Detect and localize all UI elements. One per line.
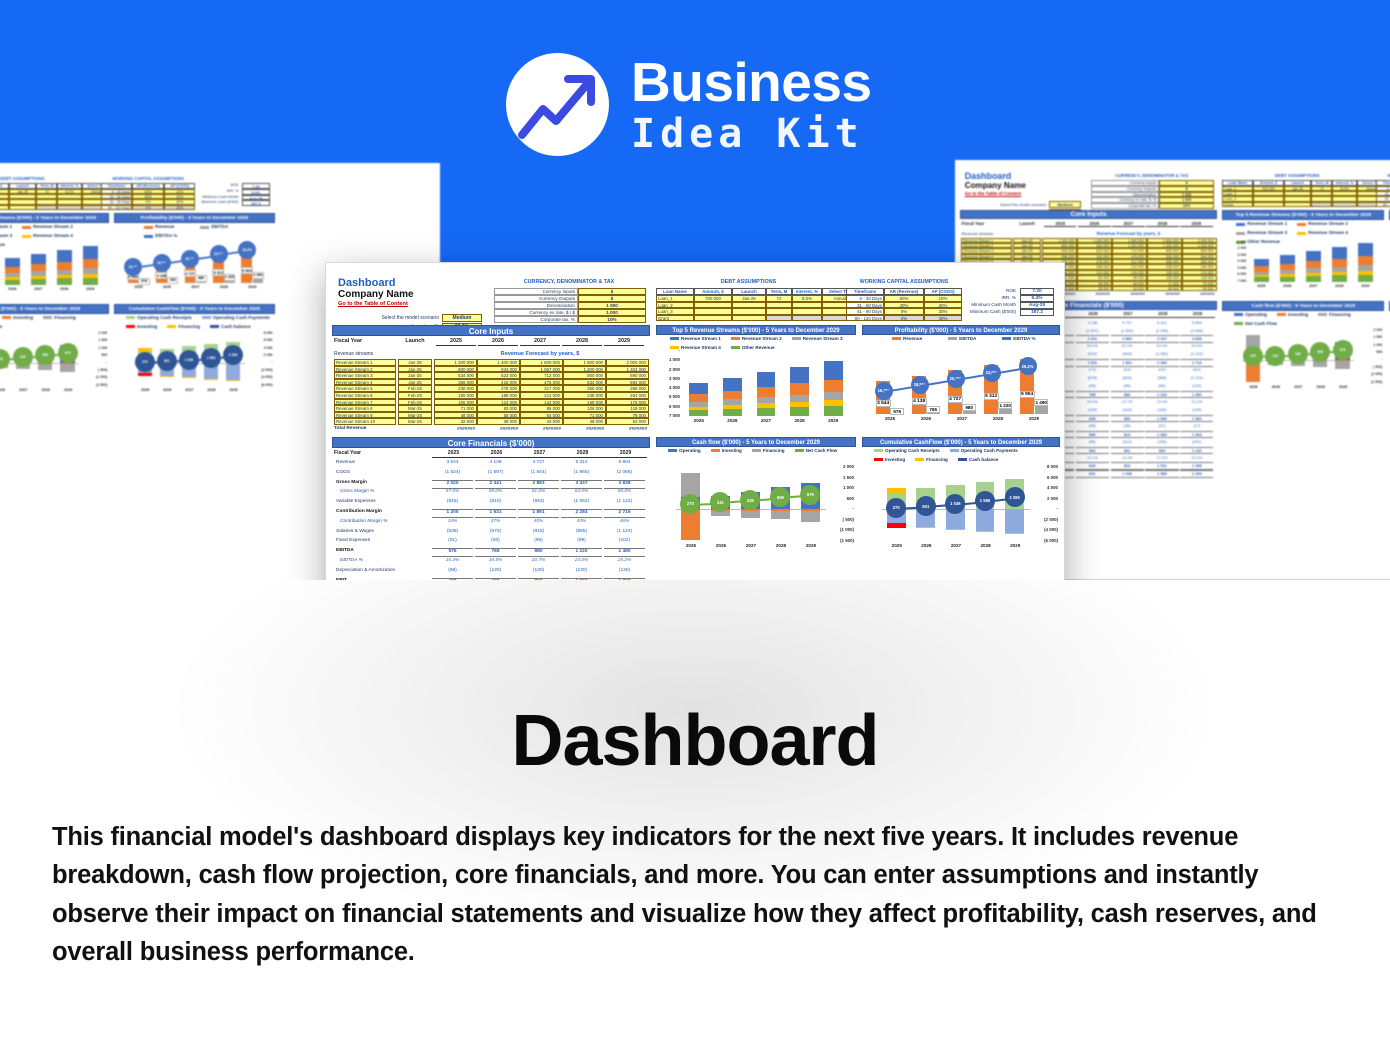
revenue-forecast-cell[interactable]: 475 000	[520, 379, 563, 386]
revenue-forecast-cell[interactable]: 212 000	[520, 392, 563, 399]
cf-row-label: Contribution Margin %	[336, 519, 430, 528]
cf-cell: 5 312	[1145, 320, 1178, 327]
cf-cell: 2 284	[1145, 359, 1178, 366]
legend-label: Financing	[54, 315, 76, 320]
revenue-forecast-cell[interactable]: 1 334 000	[606, 366, 649, 373]
cf-cell: (130)	[1111, 407, 1144, 414]
legend-label: EBITDA	[211, 224, 228, 229]
legend-item: Revenue Stream 2	[731, 336, 782, 341]
legend-swatch	[950, 449, 959, 452]
revenue-stream-launch[interactable]: Jan-25	[398, 366, 432, 373]
cf-cell: (1 844)	[518, 470, 559, 479]
revenue-forecast-cell[interactable]: 106 000	[434, 399, 477, 406]
legend-label: Investing	[137, 324, 157, 329]
debt-cell[interactable]	[0, 205, 9, 210]
y-tick: 500	[79, 353, 107, 359]
bar-segment	[1358, 243, 1373, 256]
y-tick: 1 000	[1354, 343, 1382, 349]
legend-label: Operating Cash Receipts	[885, 448, 940, 453]
revenue-forecast-cell[interactable]: 1 067 000	[520, 366, 563, 373]
bar-segment	[689, 402, 708, 407]
debt-cell[interactable]	[792, 315, 822, 322]
legend-item: Operating Cash Payments	[950, 448, 1018, 453]
revenue-forecast-cell[interactable]: 43 000	[520, 418, 563, 425]
revenue-stream-name[interactable]: Revenue Stream 9	[334, 412, 396, 419]
cf-cell: 904	[1145, 447, 1178, 454]
bar-segment	[723, 391, 742, 400]
legend-item: Operating Cash Receipts	[874, 448, 940, 453]
kpi-label: IRR, %	[956, 295, 1018, 302]
cf-cell: (98)	[432, 568, 473, 577]
revenue-forecast-cell[interactable]: 186 000	[477, 392, 520, 399]
revenue-forecast-cell[interactable]: 159 000	[434, 392, 477, 399]
y-tick: 7 000	[656, 413, 680, 419]
revenue-forecast-cell[interactable]: 238 000	[434, 385, 477, 392]
legend-item: Operating Cash Payments	[202, 315, 270, 320]
cf-cell: 1 266	[1180, 462, 1213, 469]
legend-item: Cash balance	[958, 457, 999, 462]
cf-cell: (965)	[561, 529, 602, 538]
revenue-forecast-cell[interactable]: 83 000	[477, 405, 520, 412]
cf-cell: (1 965)	[561, 470, 602, 479]
cf-cell: (130)	[1076, 407, 1109, 414]
x-tick: 2027	[1287, 385, 1309, 393]
cf-cell: 1 490	[1180, 391, 1213, 398]
revenue-stream-name[interactable]: Revenue Stream 6	[334, 392, 396, 399]
revenue-label: 4 727	[184, 270, 196, 277]
cf-cell: (1 062)	[561, 499, 602, 508]
revenue-forecast-cell[interactable]: 43 000	[1112, 286, 1147, 291]
revenue-stream-launch[interactable]: Jan-25	[398, 359, 432, 366]
revenue-forecast-cell[interactable]: 534 000	[434, 372, 477, 379]
net-marker: 435	[1288, 344, 1308, 364]
bar-segment	[976, 531, 995, 532]
revenue-forecast-cell[interactable]: 106 000	[563, 405, 606, 412]
revenue-forecast-cell[interactable]: 890 000	[606, 372, 649, 379]
cf-cell: 2 716	[1180, 359, 1213, 366]
chart-legend-profitability: RevenueEBITDAEBITDA %	[144, 224, 270, 238]
bar-segment	[689, 410, 708, 416]
revenue-stream-launch[interactable]: Mar-25	[398, 405, 432, 412]
y-tick: 5 000	[656, 394, 680, 400]
debt-cell[interactable]	[9, 205, 37, 210]
scenario-select[interactable]: Medium	[442, 314, 482, 322]
cf-row-label: Depreciation & Amortization	[336, 568, 430, 577]
company-name: Company Name	[965, 181, 1026, 190]
legend-item: Investing	[874, 457, 905, 462]
revenue-stream-name[interactable]: Revenue Stream 5	[334, 385, 396, 392]
currency-row-value[interactable]: 1 000	[578, 302, 646, 309]
y-tick: 6 000	[1222, 272, 1246, 278]
y-tick: 1 000	[1222, 240, 1246, 246]
debt-cell[interactable]: Grant	[1222, 202, 1253, 207]
y-tick: 1 000	[656, 357, 680, 363]
core-inputs-year: 2027	[1112, 221, 1144, 227]
net-marker: 270	[886, 498, 906, 518]
bar-segment	[31, 279, 46, 285]
bar-segment	[1254, 259, 1269, 267]
cf-cell: (36)	[1111, 423, 1144, 430]
y-tick: 7 000	[1222, 279, 1246, 285]
core-inputs-year: 2029	[604, 338, 644, 346]
chart-cash_flow: Cash flow ($'000) - 5 Years to December …	[1222, 301, 1384, 397]
revenue-forecast-cell[interactable]: 534 000	[563, 379, 606, 386]
revenue-forecast-cell[interactable]: 356 000	[434, 379, 477, 386]
x-tick: 2029	[1016, 416, 1052, 424]
revenue-forecast-cell[interactable]: 38 000	[477, 418, 520, 425]
legend-item: EBITDA	[200, 224, 228, 229]
debt-cell[interactable]	[694, 315, 732, 322]
revenue-forecast-cell[interactable]: 118 000	[606, 405, 649, 412]
x-tick: 2028	[200, 388, 222, 396]
wc-cell[interactable]: 90 - 120 Days	[846, 315, 884, 322]
bar-segment	[31, 271, 46, 276]
scenario-select[interactable]: Medium	[1049, 201, 1081, 207]
revenue-forecast-cell[interactable]: 48 000	[563, 418, 606, 425]
legend-swatch	[1277, 313, 1286, 316]
revenue-stream-name[interactable]: Revenue Stream 3	[334, 372, 396, 379]
revenue-forecast-cell[interactable]: 71 000	[563, 412, 606, 419]
revenue-forecast-cell[interactable]: 396 000	[606, 385, 649, 392]
cf-cell: 3 347	[1145, 335, 1178, 342]
bar-segment	[887, 488, 906, 493]
x-tick: 2026	[156, 388, 178, 396]
cf-row-label: Variable Expenses	[336, 499, 430, 508]
revenue-forecast-cell[interactable]: 56 000	[477, 412, 520, 419]
wc-panel-title: WORKING CAPITAL ASSUMPTIONS	[101, 176, 195, 182]
y-tick: (6 000)	[1030, 538, 1058, 544]
ebitda-pct-marker: 25,2%	[1019, 357, 1037, 375]
total-revenue-label: Total Revenue	[334, 426, 396, 433]
cf-cell: 34%	[432, 519, 473, 528]
debt-cell[interactable]	[36, 205, 57, 210]
revenue-stream-launch[interactable]: Feb-25	[398, 385, 432, 392]
legend-item: Financing	[915, 457, 948, 462]
bar-segment	[689, 394, 708, 401]
revenue-forecast-cell[interactable]: 142 000	[520, 399, 563, 406]
x-tick: 2025	[1248, 284, 1274, 292]
currency-row-value[interactable]: 10%	[1159, 203, 1214, 209]
bar-segment	[57, 270, 72, 275]
revenue-forecast-cell[interactable]: 71 000	[434, 405, 477, 412]
bar-segment	[1358, 256, 1373, 265]
revenue-stream-launch[interactable]: Feb-25	[398, 399, 432, 406]
revenue-forecast-cell[interactable]: 124 000	[477, 399, 520, 406]
kpi-value: 187.2	[242, 200, 270, 206]
bar-segment	[83, 278, 98, 285]
currency-row-label: Currency ex rate, $ / $	[494, 309, 578, 316]
fiscal-year-label: Fiscal Year	[334, 338, 394, 346]
cf-row-label: COGS	[336, 470, 430, 479]
cf-cell: 3 347	[561, 480, 602, 489]
brand-name-line2: Idea Kit	[631, 114, 872, 154]
revenue-stream-name[interactable]: Revenue Stream 2	[334, 366, 396, 373]
kpi-value: 187.2	[1020, 309, 1054, 316]
revenue-forecast-cell[interactable]: 278 000	[477, 385, 520, 392]
launch-label: Launch	[1013, 221, 1041, 227]
bar-segment	[1005, 533, 1024, 534]
cf-cell: (675)	[475, 529, 516, 538]
revenue-stream-launch[interactable]: Feb-25	[398, 392, 432, 399]
wc-cell[interactable]: 90 - 120 Days	[101, 205, 132, 210]
x-tick: 2027	[749, 418, 783, 426]
cf-cell: (1 124)	[604, 529, 645, 538]
wc-cell[interactable]: 0%	[884, 315, 924, 322]
cf-cell: (102)	[604, 538, 645, 547]
revenue-stream-name[interactable]: Revenue Stream 8	[334, 405, 396, 412]
cf-cell: 1 531	[475, 509, 516, 518]
scenario-label: Select the model scenario	[970, 202, 1047, 208]
legend-label: Revenue Stream 4	[1308, 230, 1348, 235]
revenue-forecast-cell[interactable]: 317 000	[520, 385, 563, 392]
ebitda-label: 980	[195, 275, 206, 282]
chart-legend-cumulative_cashflow: Operating Cash ReceiptsOperating Cash Pa…	[126, 315, 270, 329]
currency-row-value[interactable]: 10%	[578, 316, 646, 323]
cf-cell: 3 544	[432, 460, 473, 469]
x-tick: 2025	[682, 418, 716, 426]
currency-row-value[interactable]: 1.000	[578, 309, 646, 316]
core-inputs-band: Core Inputs	[960, 210, 1218, 219]
revenue-forecast-cell[interactable]: 176 000	[606, 399, 649, 406]
debt-cell[interactable]	[1253, 202, 1284, 207]
chart-title-top5_revenue: Top 5 Revenue Streams ($'000) - 5 Years …	[1222, 210, 1384, 220]
revenue-forecast-cell[interactable]: 53 000	[1182, 286, 1217, 291]
legend-label: Financing	[926, 457, 948, 462]
cf-row-label: Salaries & Wages	[336, 529, 430, 538]
revenue-stream-launch[interactable]: Mar-25	[398, 418, 432, 425]
revenue-forecast-cell[interactable]: 934 000	[477, 366, 520, 373]
legend-swatch	[22, 226, 31, 229]
x-tick: 2029	[816, 418, 850, 426]
cf-cell: 1 031	[1145, 462, 1178, 469]
bar-segment	[5, 258, 20, 267]
x-tick: 2027	[181, 285, 209, 293]
legend-item: Revenue Stream 3	[792, 336, 843, 341]
revenue-forecast-cell[interactable]: 356 000	[563, 385, 606, 392]
cf-cell: (93)	[1076, 383, 1109, 390]
x-tick: 2025	[134, 388, 156, 396]
chart-profitability: Profitability ($'000) - 5 Years to Decem…	[114, 213, 274, 296]
revenue-stream-name[interactable]: Revenue Stream 10	[334, 418, 396, 425]
revenue-forecast-cell[interactable]: 1 400 000	[477, 359, 520, 366]
total-revenue-cell: #######	[606, 426, 649, 433]
revenue-forecast-cell[interactable]: 32 000	[434, 418, 477, 425]
cf-cell: (102)	[1180, 383, 1213, 390]
currency-row-label: Corporate tax, %	[494, 316, 578, 323]
revenue-stream-launch[interactable]: Jan-25	[398, 372, 432, 379]
revenue-forecast-cell[interactable]: 159 000	[563, 399, 606, 406]
cf-cell: (815)	[518, 529, 559, 538]
cf-cell: (2 066)	[1180, 328, 1213, 335]
revenue-forecast-cell[interactable]: 38 000	[1077, 286, 1112, 291]
chart-legend-cumulative_cashflow: Operating Cash ReceiptsOperating Cash Pa…	[874, 448, 1056, 462]
cf-cell: (130)	[475, 568, 516, 577]
revenue-forecast-cell[interactable]: 1 800 000	[563, 359, 606, 366]
legend-item: Revenue	[892, 336, 922, 341]
x-tick: 2028	[971, 543, 1001, 551]
bar-segment	[801, 511, 820, 522]
y-tick: 1 000	[79, 346, 107, 352]
revenue-forecast-cell[interactable]: 95 000	[520, 405, 563, 412]
cf-row-label: Revenue	[336, 460, 430, 469]
legend-item: Other Revenue	[0, 242, 5, 247]
cf-cell: (130)	[604, 568, 645, 577]
legend-label: Revenue	[155, 224, 174, 229]
legend-label: Financing	[1329, 312, 1351, 317]
revenue-forecast-cell[interactable]: 53 000	[606, 418, 649, 425]
y-tick: 500	[826, 496, 854, 502]
debt-panel-title: DEBT ASSUMPTIONS	[1222, 173, 1372, 179]
bar-segment	[771, 511, 790, 520]
cf-cell: (96)	[518, 538, 559, 547]
dashboard-heading: Dashboard	[338, 277, 395, 289]
net-marker: 1 585	[975, 491, 995, 511]
legend-label: Revenue Stream 3	[803, 336, 843, 341]
legend-label: Revenue Stream 1	[1247, 221, 1287, 226]
chart-title-cash_flow: Cash flow ($'000) - 5 Years to December …	[0, 304, 109, 314]
legend-label: Investing	[1288, 312, 1308, 317]
debt-cell[interactable]	[732, 315, 766, 322]
revenue-forecast-cell[interactable]: 1 600 000	[520, 359, 563, 366]
cf-cell: 4 727	[518, 460, 559, 469]
bar-segment	[138, 348, 152, 352]
legend-label: EBITDA %	[1013, 336, 1035, 341]
bar-segment	[31, 254, 46, 264]
legend-swatch	[2, 316, 11, 319]
table-of-content-link[interactable]: Go to the Table of Content	[338, 301, 408, 307]
cf-cell: (45)	[1076, 423, 1109, 430]
cf-cell: (96)	[1111, 383, 1144, 390]
bar-segment	[5, 280, 20, 285]
ebitda-label: 1 220	[998, 402, 1012, 409]
chart-legend-profitability: RevenueEBITDAEBITDA %	[892, 336, 1056, 341]
legend-swatch	[958, 458, 967, 461]
bar-segment	[1332, 272, 1347, 275]
legend-swatch	[711, 449, 720, 452]
chart-top5_revenue: Top 5 Revenue Streams ($'000) - 5 Years …	[1222, 210, 1384, 293]
total-revenue-cell: #######	[520, 426, 563, 433]
x-tick: 2029	[77, 287, 103, 295]
bar-segment	[1332, 267, 1347, 272]
currency-row-label: Currency Inputs	[494, 288, 578, 295]
revenue-forecast-cell[interactable]: 416 000	[477, 379, 520, 386]
y-tick: 2 000	[1354, 328, 1382, 334]
legend-swatch	[668, 449, 677, 452]
revenue-forecast-cell[interactable]: 712 000	[520, 372, 563, 379]
bar-segment	[741, 511, 760, 518]
revenue-forecast-cell[interactable]: 64 000	[520, 412, 563, 419]
chart-profitability: Profitability ($'000) - 5 Years to Decem…	[862, 325, 1060, 428]
x-tick: 2026	[706, 543, 736, 551]
legend-label: Other Revenue	[1247, 239, 1280, 244]
debt-cell[interactable]	[1284, 202, 1312, 207]
cf-cell: 2 265	[1180, 470, 1213, 477]
revenue-stream-name[interactable]: Revenue Stream 1	[334, 359, 396, 366]
x-tick: 2029	[57, 388, 79, 396]
revenue-forecast-cell[interactable]: 48 000	[434, 412, 477, 419]
chart-top5_revenue: Top 5 Revenue Streams ($'000) - 5 Years …	[0, 213, 109, 296]
legend-item: Operating Cash Receipts	[126, 315, 192, 320]
y-tick: (4 000)	[245, 375, 273, 381]
currency-row-value[interactable]: $	[578, 288, 646, 295]
bar-segment	[1280, 277, 1295, 282]
x-tick: 2026	[908, 416, 944, 424]
y-tick: 3 000	[1222, 253, 1246, 259]
debt-cell[interactable]	[1332, 202, 1356, 207]
revenue-forecast-cell[interactable]: 800 000	[563, 372, 606, 379]
y-tick: 2 000	[79, 331, 107, 337]
cf-year: 2027	[518, 450, 561, 458]
x-tick: 2025	[882, 543, 912, 551]
bar-segment	[1332, 259, 1347, 267]
revenue-forecast-cell[interactable]: 79 000	[606, 412, 649, 419]
y-tick: (2 000)	[245, 368, 273, 374]
cf-cell: 40%	[518, 519, 559, 528]
bar-segment	[757, 397, 776, 404]
revenue-forecast-cell[interactable]: 1 200 000	[434, 359, 477, 366]
revenue-forecast-cell[interactable]: 48 000	[1147, 286, 1182, 291]
page-description: This financial model's dashboard display…	[52, 818, 1342, 971]
core-inputs-year: 2028	[562, 338, 602, 346]
y-tick: 2 000	[656, 367, 680, 373]
revenue-stream-launch[interactable]: Mar-25	[398, 412, 432, 419]
bar-segment	[1313, 361, 1327, 367]
revenue-forecast-cell[interactable]: 594 000	[606, 379, 649, 386]
net-marker: 601	[157, 351, 177, 371]
revenue-stream-name[interactable]: Revenue Stream 4	[334, 379, 396, 386]
bar-segment	[790, 395, 809, 402]
legend-item: Investing	[1277, 312, 1308, 317]
revenue-forecast-cell[interactable]: 264 000	[606, 392, 649, 399]
legend-swatch	[126, 325, 135, 328]
currency-row-label: Currency Outputs	[494, 295, 578, 302]
debt-cell[interactable]: Grant	[656, 315, 694, 322]
wc-cell[interactable]: 0%	[132, 205, 164, 210]
x-tick: 2025	[124, 285, 152, 293]
wc-panel-title: WORKING CAPITAL ASSUMPTIONS	[846, 279, 962, 287]
cf-cell: (1 124)	[1180, 375, 1213, 382]
revenue-forecast-cell[interactable]: 800 000	[434, 366, 477, 373]
revenue-forecast-cell[interactable]: 238 000	[563, 392, 606, 399]
y-tick: 4 000	[656, 385, 680, 391]
wc-cell[interactable]: 90 - 120 Days	[1376, 202, 1390, 207]
revenue-stream-name[interactable]: Revenue Stream 7	[334, 399, 396, 406]
debt-cell[interactable]	[766, 315, 792, 322]
x-tick: 2026	[0, 388, 12, 396]
debt-cell[interactable]	[57, 205, 81, 210]
revenue-forecast-cell[interactable]: 2 000 000	[606, 359, 649, 366]
cf-cell: (122)	[1111, 439, 1144, 446]
currency-row-value[interactable]: $	[578, 295, 646, 302]
cf-year: 2028	[561, 450, 604, 458]
revenue-forecast-cell[interactable]: 1 200 000	[563, 366, 606, 373]
debt-cell[interactable]	[1311, 202, 1332, 207]
table-of-content-link[interactable]: Go to the Table of Content	[965, 191, 1021, 196]
legend-label: Cash balance	[221, 324, 251, 329]
legend-swatch	[22, 235, 31, 238]
x-tick: 2027	[178, 388, 200, 396]
wc-col-header: AR (Revenue)	[884, 288, 924, 295]
revenue-forecast-title: Revenue Forecast by years, $	[1041, 231, 1216, 237]
revenue-stream-launch[interactable]: Jan-25	[398, 379, 432, 386]
legend-item: Financing	[43, 315, 76, 320]
bar-segment	[1332, 275, 1347, 281]
revenue-forecast-cell[interactable]: 623 000	[477, 372, 520, 379]
legend-item: Revenue Stream 2	[22, 224, 73, 229]
bar-segment	[31, 276, 46, 279]
y-tick: 6 000	[1030, 475, 1058, 481]
cf-cell: 1 360	[1180, 415, 1213, 422]
